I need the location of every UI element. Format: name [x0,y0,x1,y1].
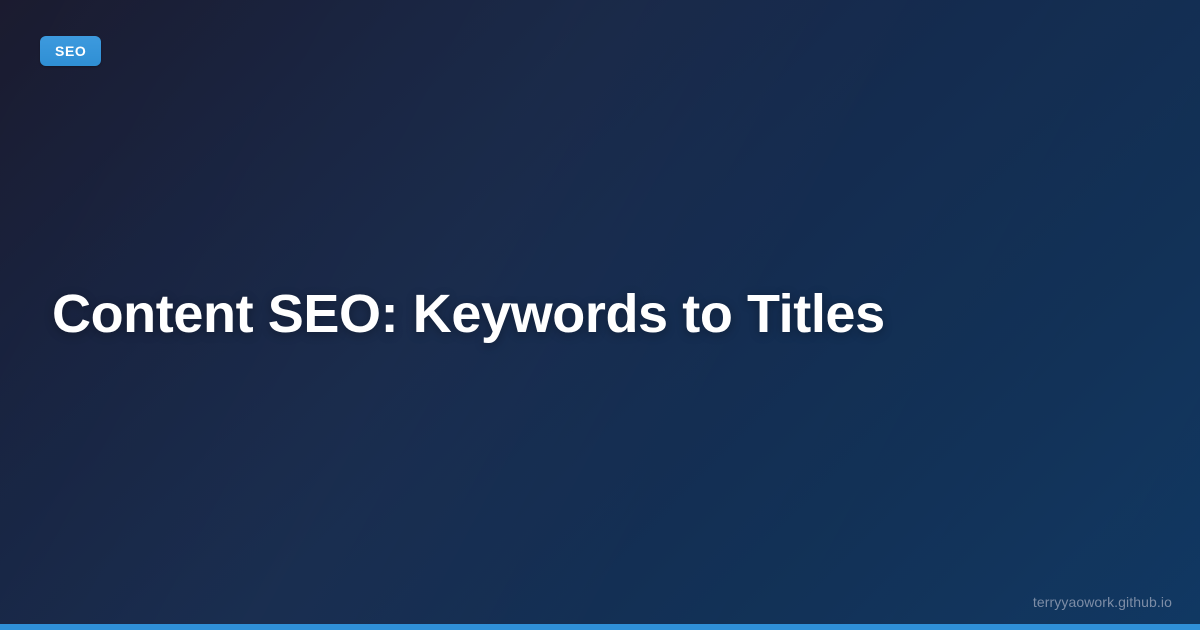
footer-site-url: terryyaowork.github.io [1033,594,1172,610]
bottom-accent-bar [0,624,1200,630]
page-title: Content SEO: Keywords to Titles [52,283,885,347]
social-share-card: SEO Content SEO: Keywords to Titles terr… [0,0,1200,630]
title-block: Content SEO: Keywords to Titles [52,0,1112,630]
